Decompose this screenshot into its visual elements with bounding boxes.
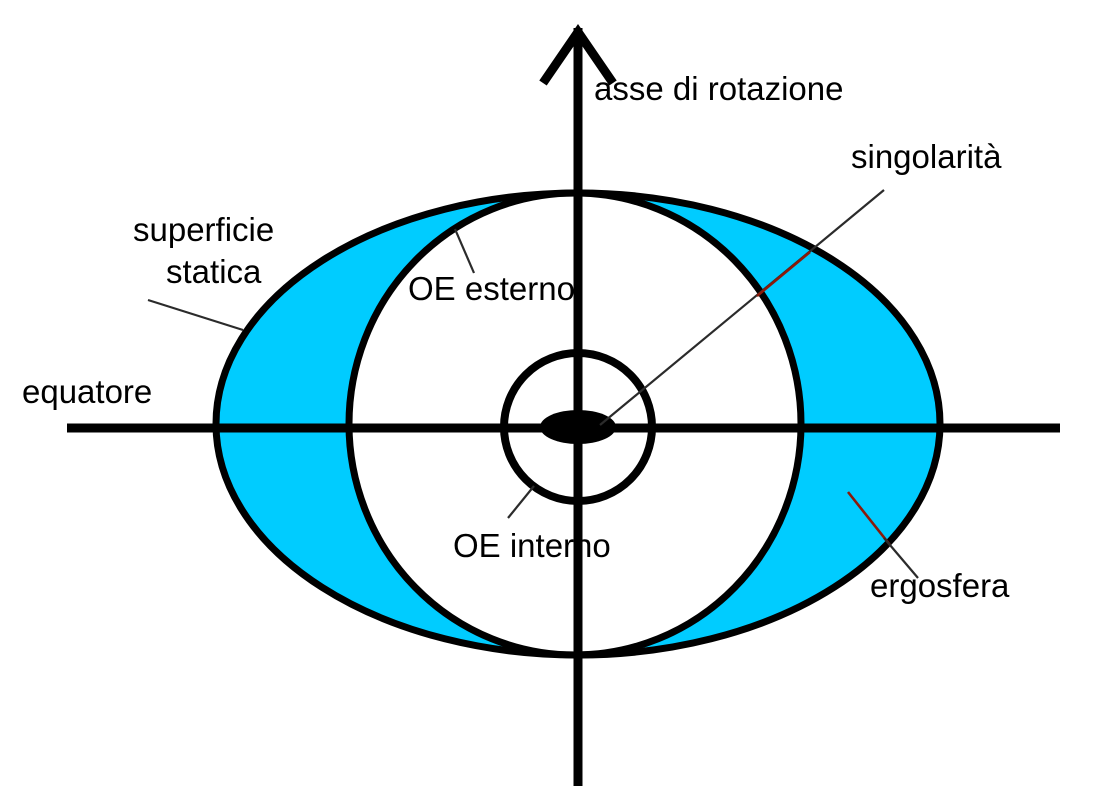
singularity-ellipse <box>540 410 616 444</box>
label-equator: equatore <box>22 373 152 410</box>
ergosphere-fill <box>0 0 1116 810</box>
diagram-canvas: asse di rotazione singolarità superficie… <box>0 0 1116 810</box>
black-hole-diagram: asse di rotazione singolarità superficie… <box>0 0 1116 810</box>
label-static-surface-line1: superficie <box>133 211 274 248</box>
label-inner-horizon: OE interno <box>453 527 611 564</box>
label-singularity: singolarità <box>851 138 1002 175</box>
label-rotation-axis: asse di rotazione <box>594 70 843 107</box>
ergosphere-region <box>0 0 1116 810</box>
label-static-surface-line2: statica <box>166 253 262 290</box>
label-outer-horizon: OE esterno <box>408 270 575 307</box>
label-ergosphere: ergosfera <box>870 567 1010 604</box>
